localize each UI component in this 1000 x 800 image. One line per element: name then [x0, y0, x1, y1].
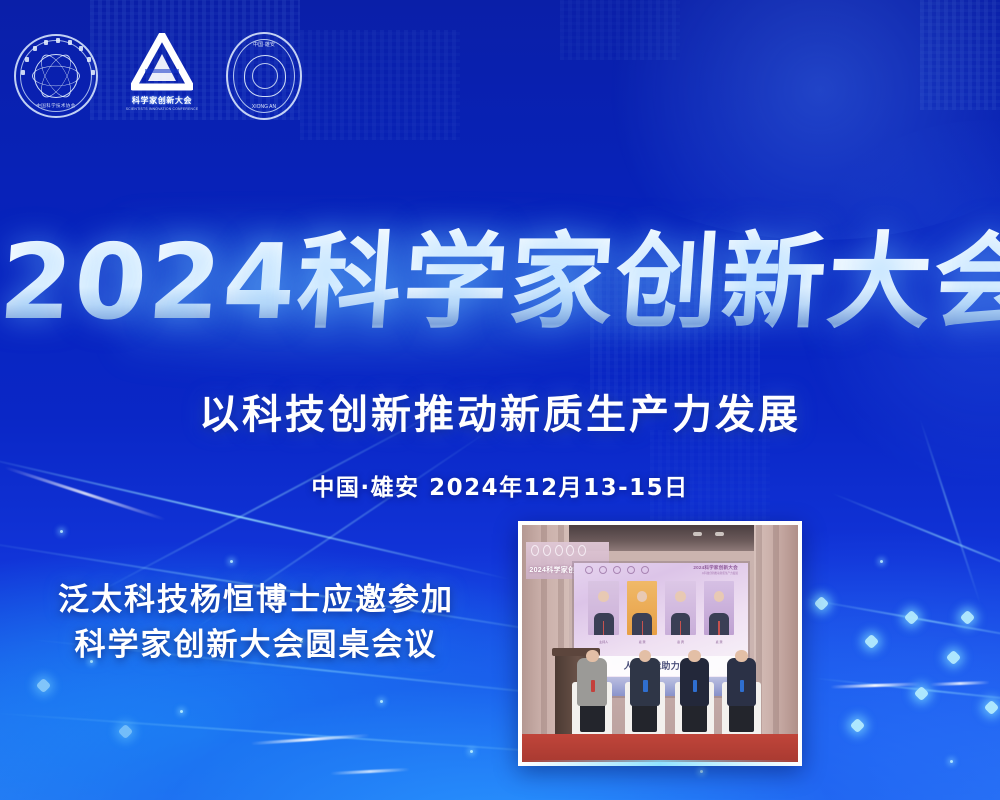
screen-header-icons [585, 566, 649, 574]
caption-line-1: 泛太科技杨恒博士应邀参加 [0, 578, 512, 623]
event-photo-content: 2024科学家创新大会 2024科学家创新大会 以科技创新推动新质生产力发展 [522, 525, 798, 762]
panelist-seated [721, 634, 762, 734]
panelist-photo [704, 581, 735, 635]
page-subtitle: 以科技创新推动新质生产力发展 [199, 382, 801, 440]
panelist-seated [572, 634, 613, 734]
logo-row: 中国科学技术协会 科学家创新大会 SCIENTISTS INNOVATION C… [14, 32, 302, 120]
screen-header-subtitle: 以科技创新推动新质生产力发展 [693, 571, 738, 575]
triangle-logo-center: 科学家创新大会 SCIENTISTS INNOVATION CONFERENCE [124, 33, 200, 119]
subtitle-block: 以科技创新推动新质生产力发展 [0, 382, 1000, 440]
event-location-date: 中国·雄安 2024年12月13-15日 [311, 468, 688, 502]
screen-header: 2024科学家创新大会 以科技创新推动新质生产力发展 [574, 563, 748, 576]
panelist-seated [624, 634, 665, 734]
seal-logo-left: 中国科学技术协会 [14, 34, 98, 118]
panelist-photo [665, 581, 696, 635]
seal-logo-right-bottom-text: XIONG AN [226, 104, 302, 110]
main-title-block: 2024科学家创新大会 [0, 228, 1000, 337]
triangle-logo-subline: SCIENTISTS INNOVATION CONFERENCE [126, 107, 199, 111]
photo-bottom-glow [518, 760, 802, 766]
conference-poster: 中国科学技术协会 科学家创新大会 SCIENTISTS INNOVATION C… [0, 0, 1000, 800]
panelist-photo [588, 581, 619, 635]
panelist-photo [627, 581, 658, 635]
event-photo[interactable]: 2024科学家创新大会 2024科学家创新大会 以科技创新推动新质生产力发展 [518, 521, 802, 766]
stage-floor [522, 734, 798, 762]
caption-line-2: 科学家创新大会圆桌会议 [0, 623, 512, 668]
background-glow-top [560, 0, 1000, 240]
triangle-logo-wordmark: 科学家创新大会 [132, 95, 192, 106]
shield-icon [244, 55, 286, 97]
seal-logo-left-text: 中国科学技术协会 [14, 103, 98, 109]
seal-logo-right-top-text: 中国·雄安 [226, 41, 302, 48]
side-banner-icons [531, 545, 586, 556]
triangle-mark-icon [131, 33, 193, 91]
page-title: 2024科学家创新大会 [0, 228, 1000, 337]
event-meta-block: 中国·雄安 2024年12月13-15日 [0, 468, 1000, 502]
seal-logo-right: 中国·雄安 XIONG AN [226, 32, 302, 120]
caption-block: 泛太科技杨恒博士应邀参加 科学家创新大会圆桌会议 [0, 578, 512, 668]
screen-header-title: 2024科学家创新大会 [693, 565, 738, 571]
panelist-seated [674, 634, 715, 734]
